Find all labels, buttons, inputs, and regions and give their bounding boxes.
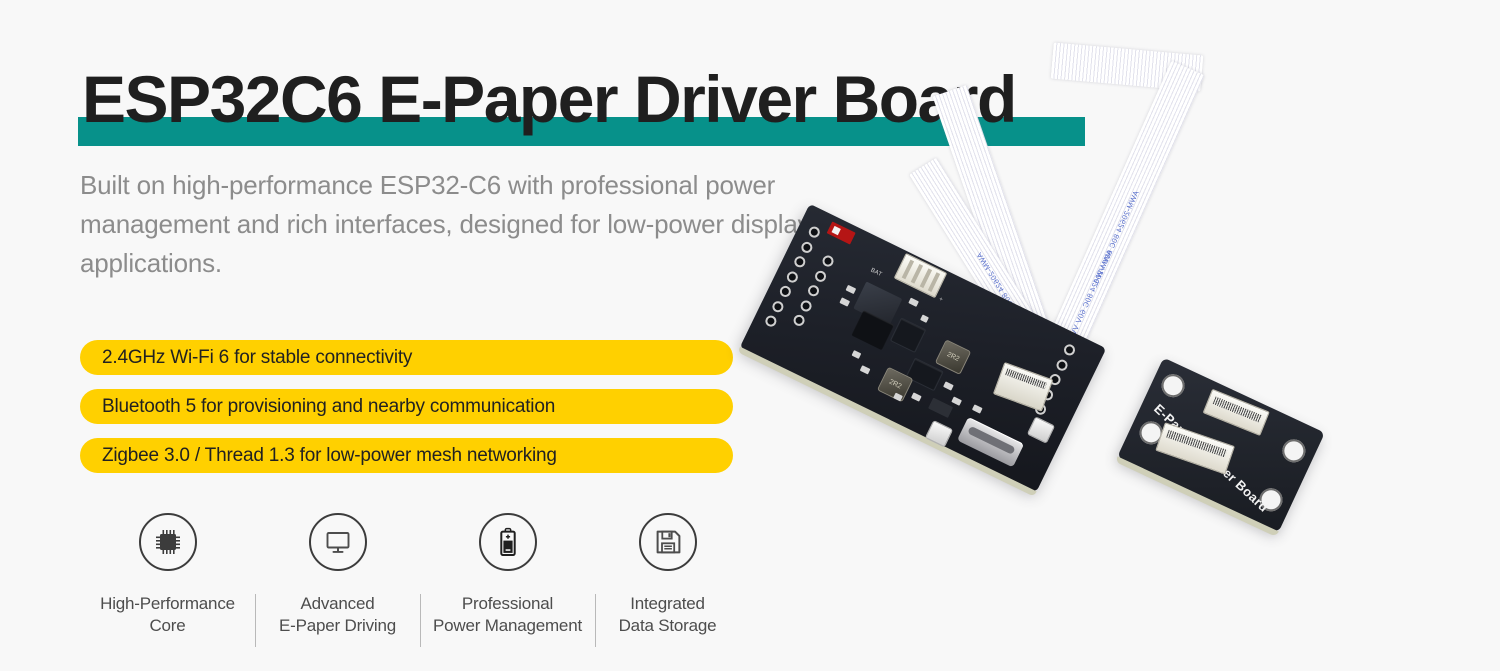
monitor-icon	[309, 513, 367, 571]
chip-icon	[139, 513, 197, 571]
battery-icon	[479, 513, 537, 571]
product-banner: ESP32C6 E-Paper Driver Board Built on hi…	[0, 0, 1500, 671]
feature-pill-label: Bluetooth 5 for provisioning and nearby …	[102, 396, 555, 418]
feature-item-advanced-e-paper-driving: Advanced E-Paper Driving	[255, 513, 420, 637]
feature-icon-row: High-Performance Core Advanced E-Paper D…	[80, 513, 740, 643]
feature-item-professional-power-management: Professional Power Management	[420, 513, 595, 637]
feature-pill-label: Zigbee 3.0 / Thread 1.3 for low-power me…	[102, 445, 557, 467]
esp32c6-driver-board: BAT + 2R2 2R2	[740, 204, 1107, 492]
feature-item-integrated-data-storage: Integrated Data Storage	[595, 513, 740, 637]
feature-item-label: High-Performance Core	[100, 593, 235, 637]
feature-item-label: Professional Power Management	[433, 593, 582, 637]
feature-item-label: Advanced E-Paper Driving	[279, 593, 396, 637]
pcb-substrate	[740, 204, 1107, 492]
feature-pill: Bluetooth 5 for provisioning and nearby …	[80, 389, 733, 424]
feature-item-label: Integrated Data Storage	[619, 593, 717, 637]
feature-pill: 2.4GHz Wi-Fi 6 for stable connectivity	[80, 340, 733, 375]
feature-pill-label: 2.4GHz Wi-Fi 6 for stable connectivity	[102, 347, 412, 369]
wireless-feature-pill-list: 2.4GHz Wi-Fi 6 for stable connectivity B…	[80, 340, 733, 487]
e-paper-adapter-board: E-Paper Adapter Board	[1117, 358, 1325, 533]
feature-pill: Zigbee 3.0 / Thread 1.3 for low-power me…	[80, 438, 733, 473]
product-photo: AWM-20624 80C 60V VW-1 AWM-20624 80C 60V…	[740, 40, 1500, 600]
floppy-disk-icon	[639, 513, 697, 571]
feature-item-high-performance-core: High-Performance Core	[80, 513, 255, 637]
